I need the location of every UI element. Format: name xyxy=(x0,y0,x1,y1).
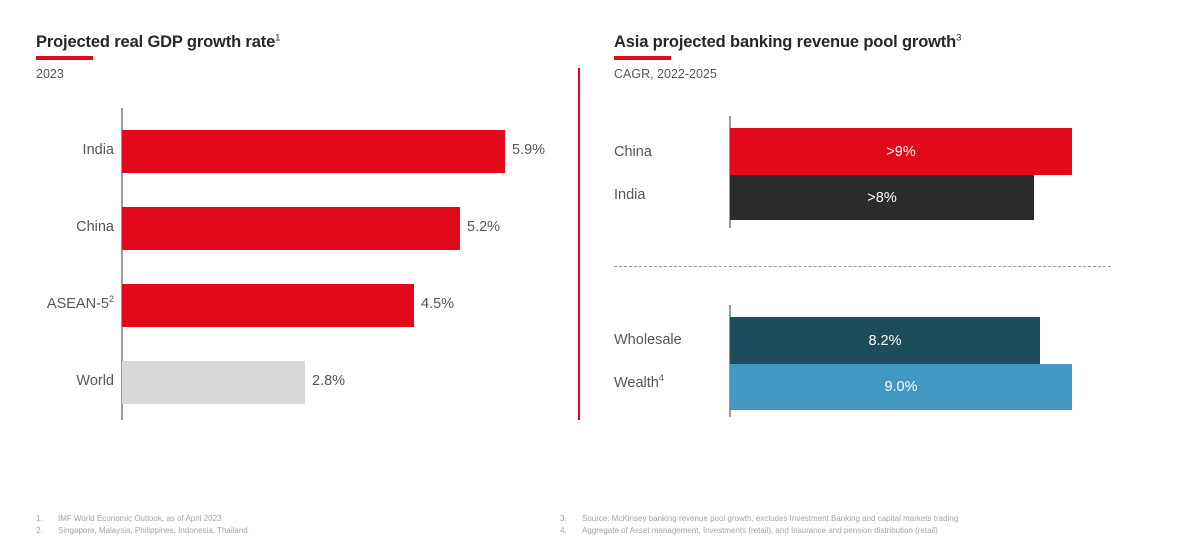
right-chart-panel: Asia projected banking revenue pool grow… xyxy=(0,0,1200,555)
right-bar-row-wealth: 9.0% xyxy=(730,364,1072,410)
footnote-3-number: 3. xyxy=(560,513,582,525)
right-bar-value-wholesale: 8.2% xyxy=(868,333,901,349)
right-bar-wealth[interactable]: 9.0% xyxy=(730,364,1072,410)
right-bar-wholesale[interactable]: 8.2% xyxy=(730,317,1040,364)
right-category-label-wholesale: Wholesale xyxy=(614,332,682,348)
footnote-4-text: Aggregate of Asset management, Investmen… xyxy=(582,525,938,537)
footnote-4-number: 4. xyxy=(560,525,582,537)
right-footnotes: 3. Source: McKinsey banking revenue pool… xyxy=(560,513,958,536)
footnote-4: 4. Aggregate of Asset management, Invest… xyxy=(560,525,958,537)
footnote-3-text: Source: McKinsey banking revenue pool gr… xyxy=(582,513,958,525)
footnote-3: 3. Source: McKinsey banking revenue pool… xyxy=(560,513,958,525)
right-bar-row-wholesale: 8.2% xyxy=(730,317,1040,364)
right-category-label-wealth: Wealth4 xyxy=(614,375,664,391)
right-plot-area-segments: Wholesale 8.2% Wealth4 9.0% xyxy=(0,0,1200,555)
right-bar-value-wealth: 9.0% xyxy=(884,379,917,395)
